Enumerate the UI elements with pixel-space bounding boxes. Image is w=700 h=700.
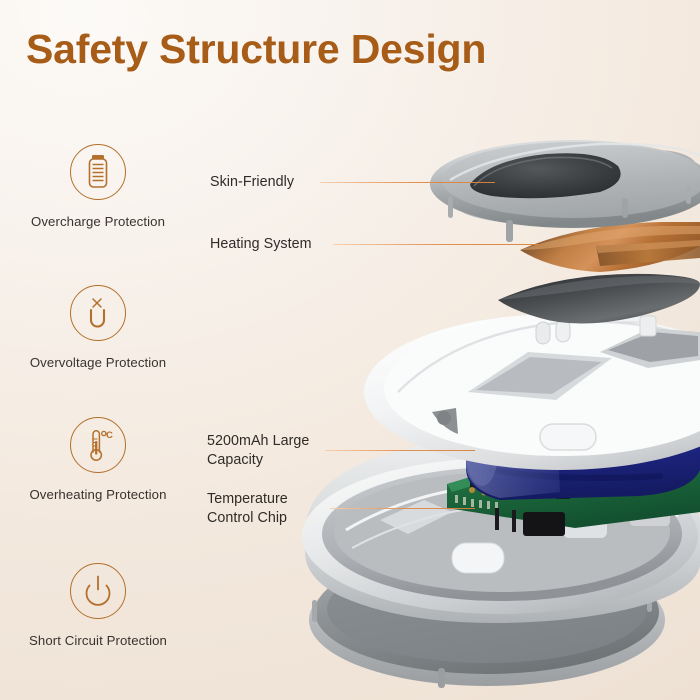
leader-line-battery-capacity: [325, 450, 475, 451]
product-infographic: Safety Structure Design Overcharge Pro: [0, 0, 700, 700]
thermometer-icon: C: [70, 417, 126, 473]
svg-text:C: C: [106, 430, 113, 441]
leader-line-skin-friendly: [320, 182, 495, 183]
callout-temperature-chip: Temperature Control Chip: [207, 490, 288, 528]
feature-overvoltage-protection: Overvoltage Protection: [0, 285, 196, 370]
feature-short-circuit-protection: Short Circuit Protection: [0, 563, 196, 648]
leader-line-heating-system: [333, 244, 538, 245]
feature-label: Short Circuit Protection: [0, 633, 196, 648]
feature-overcharge-protection: Overcharge Protection: [0, 144, 196, 229]
battery-icon: [70, 144, 126, 200]
feature-label: Overheating Protection: [0, 487, 196, 502]
page-title: Safety Structure Design: [26, 26, 486, 73]
callout-heating-system: Heating System: [210, 235, 312, 254]
callout-skin-friendly: Skin-Friendly: [210, 173, 294, 192]
feature-label: Overcharge Protection: [0, 214, 196, 229]
callout-battery-capacity: 5200mAh Large Capacity: [207, 432, 309, 470]
leader-line-temperature-chip: [330, 508, 475, 509]
feature-label: Overvoltage Protection: [0, 355, 196, 370]
white-upper-housing: [364, 308, 700, 470]
overvoltage-icon: [70, 285, 126, 341]
power-icon: [70, 563, 126, 619]
heating-film: [520, 222, 700, 272]
feature-overheating-protection: C Overheating Protection: [0, 417, 196, 502]
